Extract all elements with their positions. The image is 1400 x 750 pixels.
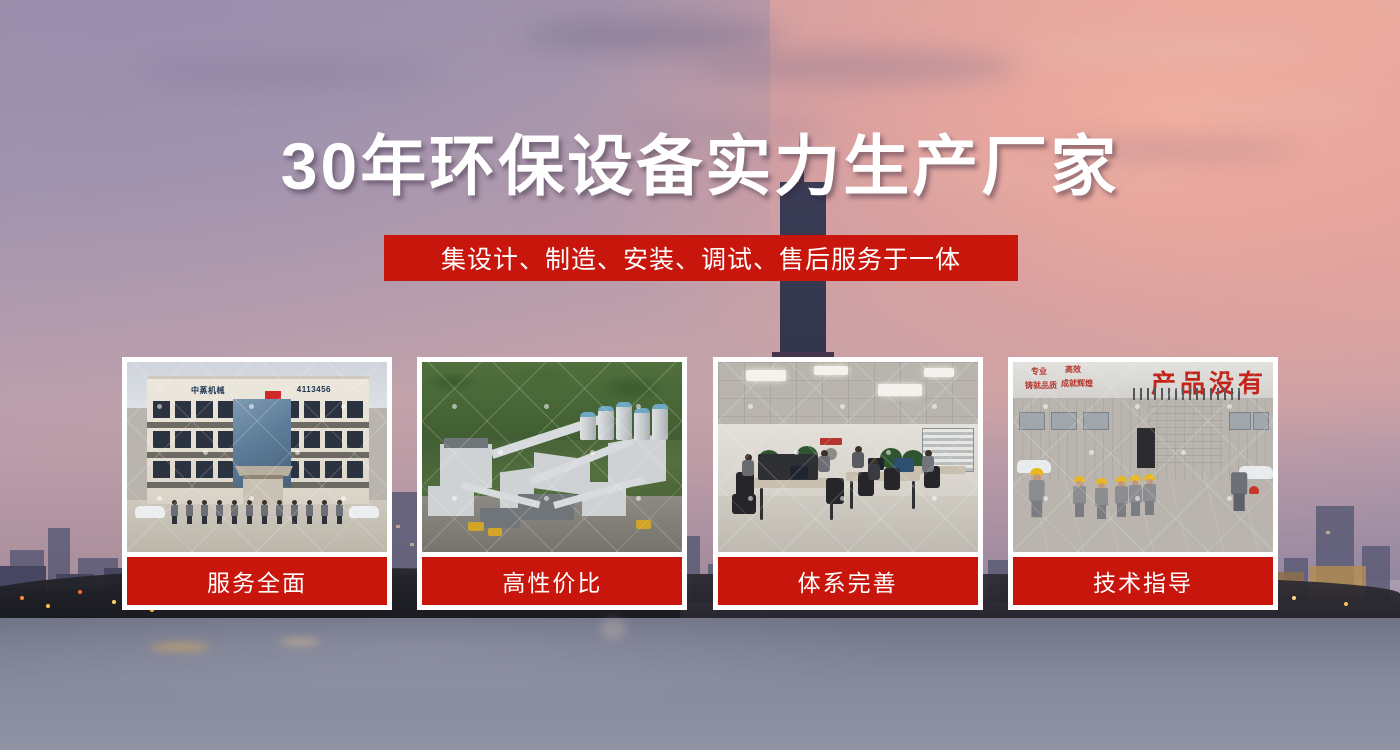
staff-person bbox=[231, 500, 238, 524]
street-light bbox=[1292, 596, 1296, 600]
storage-silo bbox=[598, 406, 614, 440]
cloud bbox=[690, 52, 1020, 82]
feature-card[interactable]: 高性价比 bbox=[417, 357, 687, 610]
street-light bbox=[20, 596, 24, 600]
card-caption: 服务全面 bbox=[127, 557, 387, 605]
parked-car bbox=[349, 506, 379, 518]
staff-person bbox=[321, 500, 328, 524]
storage-silo bbox=[580, 412, 596, 440]
promo-banner: 30年环保设备实力生产厂家 集设计、制造、安装、调试、售后服务于一体 中蒸机械 … bbox=[0, 0, 1400, 750]
water-reflection bbox=[280, 638, 320, 646]
ceiling-light bbox=[746, 370, 786, 381]
staff-person bbox=[291, 500, 298, 524]
street-light bbox=[78, 590, 82, 594]
staff-person bbox=[186, 500, 193, 524]
street-light bbox=[112, 600, 116, 604]
subtitle-banner: 集设计、制造、安装、调试、售后服务于一体 bbox=[384, 235, 1018, 281]
plant-building bbox=[440, 444, 492, 488]
factory-window bbox=[1083, 412, 1109, 430]
factory-sign-small-text: 铸就品质 bbox=[1025, 380, 1057, 391]
staff-person bbox=[261, 500, 268, 524]
factory-sign-small-text: 高效 bbox=[1065, 364, 1081, 375]
card-photo-plant-aerial bbox=[422, 362, 682, 552]
feature-card[interactable]: 产品没有 专业 高效 铸就品质 成就辉煌 bbox=[1008, 357, 1278, 610]
ceiling-light bbox=[924, 368, 954, 377]
storage-silo bbox=[634, 408, 650, 440]
street-light bbox=[46, 604, 50, 608]
card-caption-text: 体系完善 bbox=[798, 564, 898, 598]
photo-office-building: 中蒸机械 4113456 bbox=[147, 376, 369, 504]
storage-silo bbox=[652, 404, 668, 440]
water-reflection bbox=[600, 618, 626, 640]
factory-window bbox=[1253, 412, 1269, 430]
factory-sign-small-text: 成就辉煌 bbox=[1061, 378, 1093, 389]
card-caption-text: 高性价比 bbox=[502, 564, 602, 598]
feature-card[interactable]: 中蒸机械 4113456 bbox=[122, 357, 392, 610]
monitor bbox=[790, 466, 808, 479]
cloud bbox=[1010, 36, 1310, 64]
desk-panel bbox=[758, 454, 818, 480]
office-chair bbox=[732, 494, 756, 514]
card-caption: 高性价比 bbox=[422, 557, 682, 605]
page-title: 30年环保设备实力生产厂家 bbox=[0, 133, 1400, 200]
factory-grille bbox=[1133, 388, 1241, 400]
staff-person bbox=[216, 500, 223, 524]
factory-window bbox=[1051, 412, 1077, 430]
construction-machine bbox=[488, 528, 502, 536]
desk-leg bbox=[850, 481, 853, 509]
card-photo-worker-training: 产品没有 专业 高效 铸就品质 成就辉煌 bbox=[1013, 362, 1273, 552]
factory-side-door bbox=[1137, 428, 1155, 468]
staff-person bbox=[336, 500, 343, 524]
parked-car bbox=[135, 506, 165, 518]
factory-sign-small-text: 专业 bbox=[1031, 366, 1047, 377]
card-photo-office-interior bbox=[718, 362, 978, 552]
factory-window bbox=[1019, 412, 1045, 430]
factory-roller-door bbox=[1149, 406, 1223, 468]
card-caption: 技术指导 bbox=[1013, 557, 1273, 605]
red-helmet bbox=[1249, 486, 1259, 494]
window-light bbox=[1326, 531, 1330, 534]
card-photo-headquarters: 中蒸机械 4113456 bbox=[127, 362, 387, 552]
staff-person bbox=[171, 500, 178, 524]
plant-structure bbox=[444, 438, 488, 448]
office-chair bbox=[884, 468, 900, 490]
street-light bbox=[1344, 602, 1348, 606]
water-reflection bbox=[150, 642, 210, 652]
photo-floor bbox=[718, 496, 978, 552]
office-chair bbox=[826, 478, 844, 504]
building-phone-text: 4113456 bbox=[297, 385, 331, 394]
desk bbox=[846, 472, 920, 481]
cloud bbox=[1120, 96, 1370, 120]
feature-card-row: 中蒸机械 4113456 bbox=[122, 357, 1278, 610]
card-caption-text: 服务全面 bbox=[207, 564, 307, 598]
water-sheen bbox=[0, 618, 1400, 750]
cloud bbox=[520, 18, 780, 52]
desk-leg bbox=[912, 481, 915, 509]
subtitle-text: 集设计、制造、安装、调试、售后服务于一体 bbox=[441, 240, 961, 276]
feature-card[interactable]: 体系完善 bbox=[713, 357, 983, 610]
card-caption-text: 技术指导 bbox=[1093, 564, 1193, 598]
desk-leg bbox=[760, 488, 763, 520]
factory-window bbox=[1229, 412, 1251, 430]
construction-machine bbox=[468, 522, 484, 531]
ceiling-light bbox=[878, 384, 922, 396]
plant-shed bbox=[480, 508, 520, 528]
staff-person bbox=[246, 500, 253, 524]
construction-machine bbox=[636, 520, 651, 529]
card-caption: 体系完善 bbox=[718, 557, 978, 605]
building-logo-text: 中蒸机械 bbox=[191, 385, 225, 396]
ceiling-light bbox=[814, 366, 848, 375]
staff-person bbox=[201, 500, 208, 524]
photo-courtyard bbox=[127, 500, 387, 552]
staff-person bbox=[276, 500, 283, 524]
storage-silo bbox=[616, 402, 632, 440]
staff-person bbox=[306, 500, 313, 524]
cloud bbox=[140, 60, 440, 86]
